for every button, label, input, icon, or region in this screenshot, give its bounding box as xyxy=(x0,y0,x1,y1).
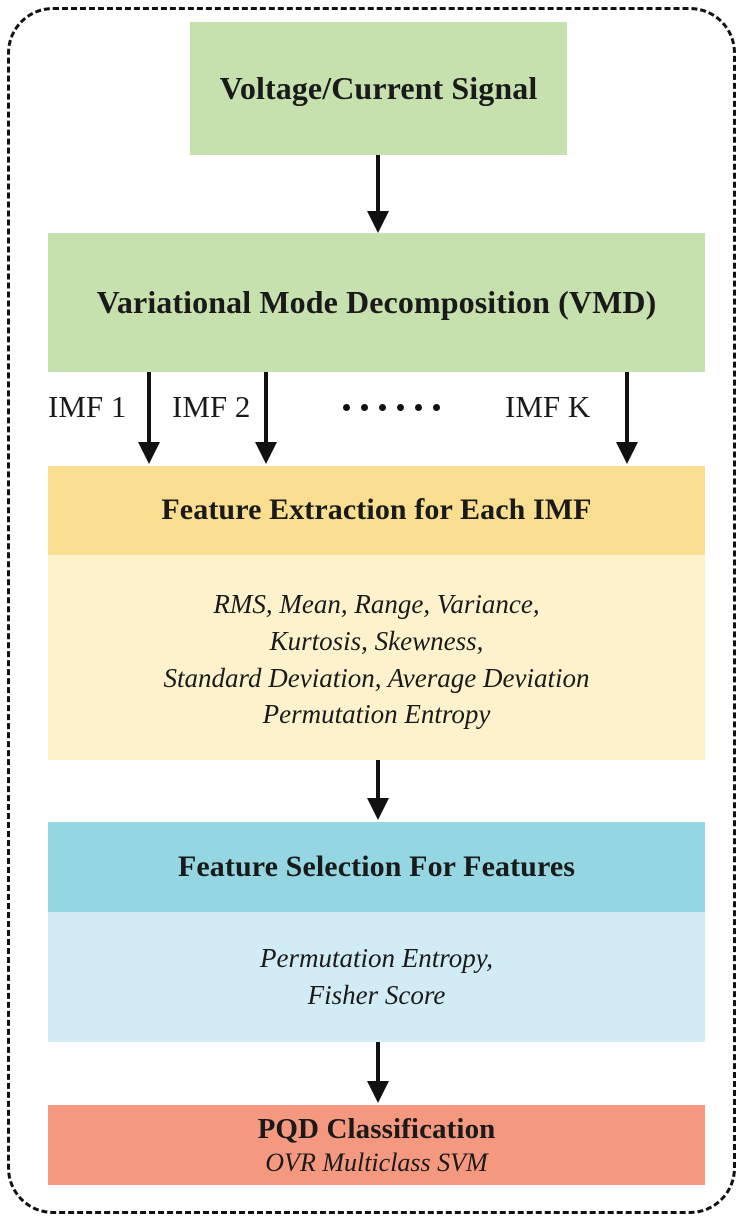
node-feature-selection: Feature Selection For Features Permutati… xyxy=(48,822,705,1042)
feature-line: RMS, Mean, Range, Variance, xyxy=(213,586,539,623)
ellipsis-dot xyxy=(415,404,422,411)
ellipsis-dot xyxy=(379,404,386,411)
selection-line: Fisher Score xyxy=(308,977,446,1014)
arrow-head-icon xyxy=(616,442,638,464)
arrow-head-icon xyxy=(367,1081,389,1103)
feature-line: Permutation Entropy xyxy=(263,696,491,733)
node-feature-selection-body: Permutation Entropy, Fisher Score xyxy=(48,912,705,1042)
arrow-head-icon xyxy=(255,442,277,464)
node-pqd-classification: PQD Classification OVR Multiclass SVM xyxy=(48,1105,705,1185)
arrow-shaft xyxy=(147,372,151,444)
ellipsis-dot xyxy=(361,404,368,411)
imf-ellipsis-icon xyxy=(343,383,440,431)
node-variational-mode-decomposition-title: Variational Mode Decomposition (VMD) xyxy=(97,284,657,321)
ellipsis-dot xyxy=(433,404,440,411)
arrow-head-icon xyxy=(138,442,160,464)
arrow-head-icon xyxy=(367,798,389,820)
arrow-shaft xyxy=(625,372,629,444)
imf-label-k: IMF K xyxy=(505,383,590,431)
feature-line: Standard Deviation, Average Deviation xyxy=(164,660,590,697)
node-pqd-classification-subtitle: OVR Multiclass SVM xyxy=(265,1147,487,1179)
imf-label-1: IMF 1 xyxy=(48,383,126,431)
arrow-head-icon xyxy=(367,211,389,233)
node-feature-extraction-title: Feature Extraction for Each IMF xyxy=(161,493,591,528)
node-feature-selection-header: Feature Selection For Features xyxy=(48,822,705,912)
node-feature-extraction: Feature Extraction for Each IMF RMS, Mea… xyxy=(48,466,705,760)
flowchart-diagram: Voltage/Current Signal Variational Mode … xyxy=(0,0,751,1229)
ellipsis-dot xyxy=(397,404,404,411)
ellipsis-dot xyxy=(343,404,350,411)
node-pqd-classification-title: PQD Classification xyxy=(258,1113,496,1147)
node-voltage-current-signal-title: Voltage/Current Signal xyxy=(220,70,538,107)
node-feature-selection-title: Feature Selection For Features xyxy=(178,850,575,885)
node-variational-mode-decomposition: Variational Mode Decomposition (VMD) xyxy=(48,233,705,372)
arrow-shaft xyxy=(376,155,380,213)
selection-line: Permutation Entropy, xyxy=(260,940,493,977)
node-feature-extraction-header: Feature Extraction for Each IMF xyxy=(48,466,705,555)
arrow-shaft xyxy=(264,372,268,444)
feature-line: Kurtosis, Skewness, xyxy=(270,623,484,660)
imf-label-2: IMF 2 xyxy=(172,383,250,431)
arrow-shaft xyxy=(376,760,380,800)
node-feature-extraction-body: RMS, Mean, Range, Variance, Kurtosis, Sk… xyxy=(48,555,705,760)
arrow-shaft xyxy=(376,1042,380,1083)
node-voltage-current-signal: Voltage/Current Signal xyxy=(190,22,567,155)
